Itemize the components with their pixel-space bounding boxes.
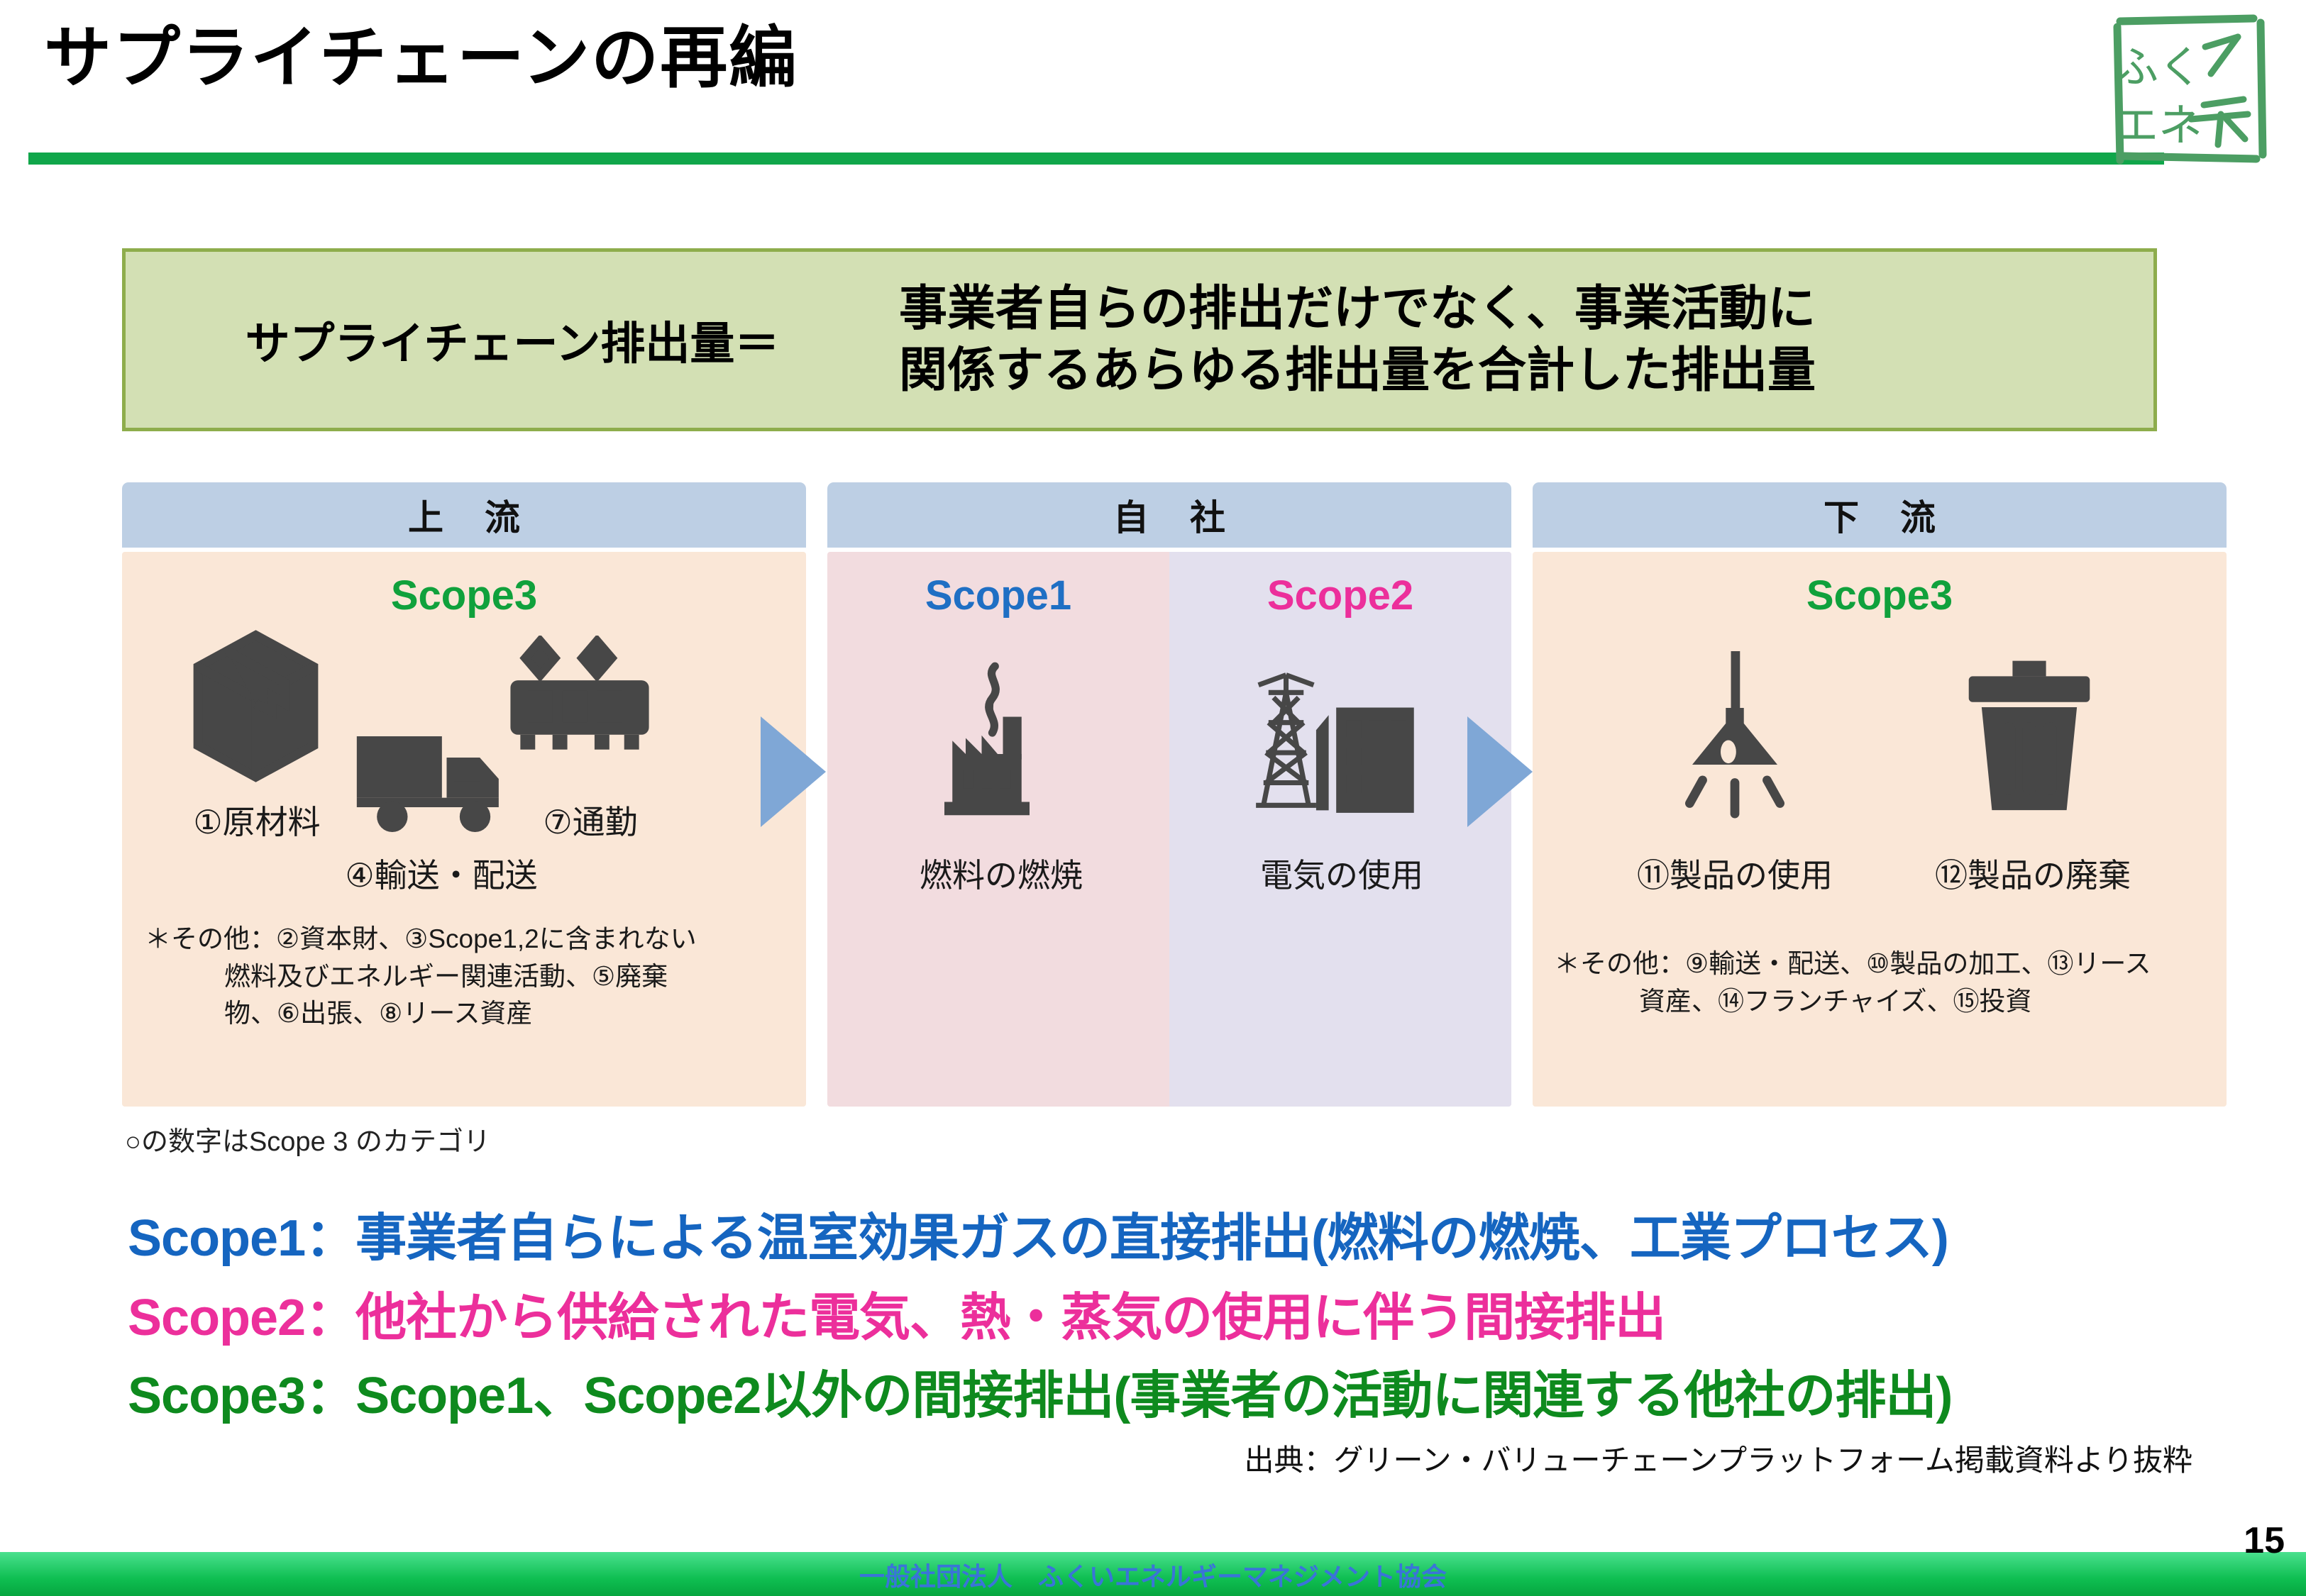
upstream-footnote-line-3: 物、⑥出張、⑧リース資産 bbox=[145, 995, 790, 1033]
panel-upstream: Scope3 ①原材料 bbox=[122, 552, 806, 1107]
page-title: サプライチェーンの再編 bbox=[44, 21, 798, 96]
column-header-upstream: 上 流 bbox=[122, 482, 806, 548]
lamp-icon bbox=[1664, 644, 1806, 829]
source-citation: 出典：グリーン・バリューチェーンプラットフォーム掲載資料より抜粋 bbox=[1245, 1436, 2192, 1480]
definition-left-label: サプライチェーン排出量＝ bbox=[126, 308, 899, 372]
upstream-footnote-line-2: 燃料及びエネルギー関連活動、⑤廃棄 bbox=[145, 958, 790, 996]
caption-raw-materials: ①原材料 bbox=[150, 797, 363, 843]
truck-icon bbox=[349, 722, 516, 836]
pylon-building-icon bbox=[1246, 658, 1434, 832]
downstream-footnote: ＊その他：⑨輸送・配送、⑩製品の加工、⑬リース 資産、⑭フランチャイズ、⑮投資 bbox=[1554, 946, 2214, 1020]
bus-icon bbox=[498, 636, 661, 760]
flow-arrow-own-to-downstream bbox=[1467, 716, 1533, 827]
scope1-description: Scope1：事業者自らによる温室効果ガスの直接排出(燃料の燃焼、工業プロセス) bbox=[128, 1196, 1948, 1270]
definition-line-2: 関係するあらゆる排出量を合計した排出量 bbox=[899, 340, 2125, 401]
panel-downstream: Scope3 ⑪製品の使用 bbox=[1533, 552, 2227, 1107]
trash-bin-icon bbox=[1958, 658, 2100, 818]
definition-right-text: 事業者自らの排出だけでなく、事業活動に 関係するあらゆる排出量を合計した排出量 bbox=[899, 278, 2153, 401]
column-header-own-company: 自 社 bbox=[827, 482, 1511, 548]
column-header-downstream: 下 流 bbox=[1533, 482, 2227, 548]
supply-chain-definition-box: サプライチェーン排出量＝ 事業者自らの排出だけでなく、事業活動に 関係するあらゆ… bbox=[122, 248, 2157, 431]
scope3-label-downstream: Scope3 bbox=[1533, 572, 2227, 619]
upstream-footnote-line-1: ＊その他：②資本財、③Scope1,2に含まれない bbox=[145, 921, 790, 958]
scope3-description: Scope3：Scope1、Scope2以外の間接排出(事業者の活動に関連する他… bbox=[128, 1353, 1952, 1428]
supply-chain-diagram: 上 流 自 社 下 流 Scope3 ①原材料 bbox=[122, 482, 2227, 1107]
caption-transport-delivery: ④輸送・配送 bbox=[314, 850, 569, 897]
scope2-label: Scope2 bbox=[1169, 572, 1511, 619]
title-underline-rule bbox=[28, 153, 2164, 165]
caption-commuting: ⑦通勤 bbox=[484, 797, 697, 843]
scope1-label: Scope1 bbox=[827, 572, 1169, 619]
caption-fuel-combustion: 燃料の燃焼 bbox=[870, 850, 1132, 897]
caption-electricity-use: 電気の使用 bbox=[1210, 850, 1473, 897]
factory-icon bbox=[934, 658, 1083, 829]
scope3-label-upstream: Scope3 bbox=[122, 572, 806, 619]
panel-own-company: Scope1 燃料の燃焼 Scope2 bbox=[827, 552, 1511, 1107]
downstream-footnote-line-1: ＊その他：⑨輸送・配送、⑩製品の加工、⑬リース bbox=[1554, 946, 2214, 983]
caption-product-disposal: ⑫製品の廃棄 bbox=[1873, 850, 2192, 897]
logo-bottom-text: エネ bbox=[2114, 99, 2202, 151]
scope2-description: Scope2：他社から供給された電気、熱・蒸気の使用に伴う間接排出 bbox=[128, 1275, 1665, 1350]
package-box-icon bbox=[190, 630, 321, 782]
fukui-ene-logo: ふく エネ bbox=[2099, 6, 2276, 172]
flow-arrow-upstream-to-own bbox=[761, 716, 826, 827]
caption-product-use: ⑪製品の使用 bbox=[1575, 850, 1894, 897]
footer-organization-name: 一般社団法人 ふくいエネルギーマネジメント協会 bbox=[0, 1556, 2306, 1593]
upstream-footnote: ＊その他：②資本財、③Scope1,2に含まれない 燃料及びエネルギー関連活動、… bbox=[145, 921, 790, 1033]
page-number: 15 bbox=[2244, 1519, 2285, 1562]
definition-line-1: 事業者自らの排出だけでなく、事業活動に bbox=[899, 278, 2125, 340]
downstream-footnote-line-2: 資産、⑭フランチャイズ、⑮投資 bbox=[1554, 983, 2214, 1021]
category-note: ○の数字はScope 3 のカテゴリ bbox=[125, 1119, 490, 1158]
logo-top-text: ふく bbox=[2114, 41, 2202, 93]
